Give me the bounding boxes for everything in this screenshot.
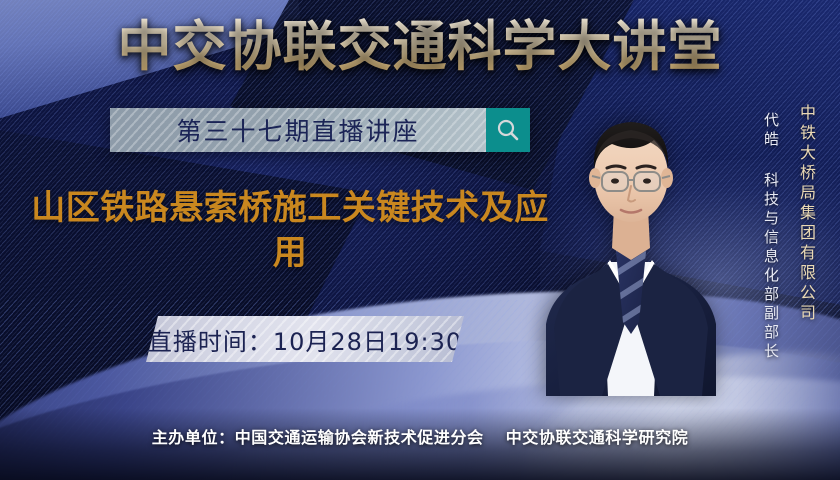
episode-label: 第三十七期直播讲座: [176, 112, 419, 148]
search-button[interactable]: [486, 108, 530, 152]
speaker-portrait-illustration: [536, 96, 726, 396]
footer-organizer: 主办单位：中国交通运输协会新技术促进分会: [152, 428, 484, 447]
speaker-name-title: 代皓 科技与信息化部副部长: [761, 112, 782, 362]
live-time-banner: 直播时间：10月28日19:30: [146, 316, 464, 362]
episode-bar-body: 第三十七期直播讲座: [110, 108, 486, 152]
episode-bar: 第三十七期直播讲座: [110, 108, 530, 152]
lecture-title: 山区铁路悬索桥施工关键技术及应用: [30, 186, 550, 276]
footer-organizers: 主办单位：中国交通运输协会新技术促进分会中交协联交通科学研究院: [0, 424, 840, 448]
live-lecture-poster: 中交协联交通科学大讲堂 第三十七期直播讲座 山区铁路悬索桥施工关键技术及应用: [0, 0, 840, 480]
poster-content: 中交协联交通科学大讲堂 第三十七期直播讲座 山区铁路悬索桥施工关键技术及应用: [0, 0, 840, 480]
page-title: 中交协联交通科学大讲堂: [0, 18, 840, 76]
footer-co-organizer: 中交协联交通科学研究院: [506, 428, 689, 447]
speaker-organization: 中铁大桥局集团有限公司: [794, 104, 818, 324]
live-time-text: 直播时间：10月28日19:30: [148, 322, 462, 357]
speaker-portrait: [536, 96, 726, 396]
search-icon: [495, 117, 521, 143]
